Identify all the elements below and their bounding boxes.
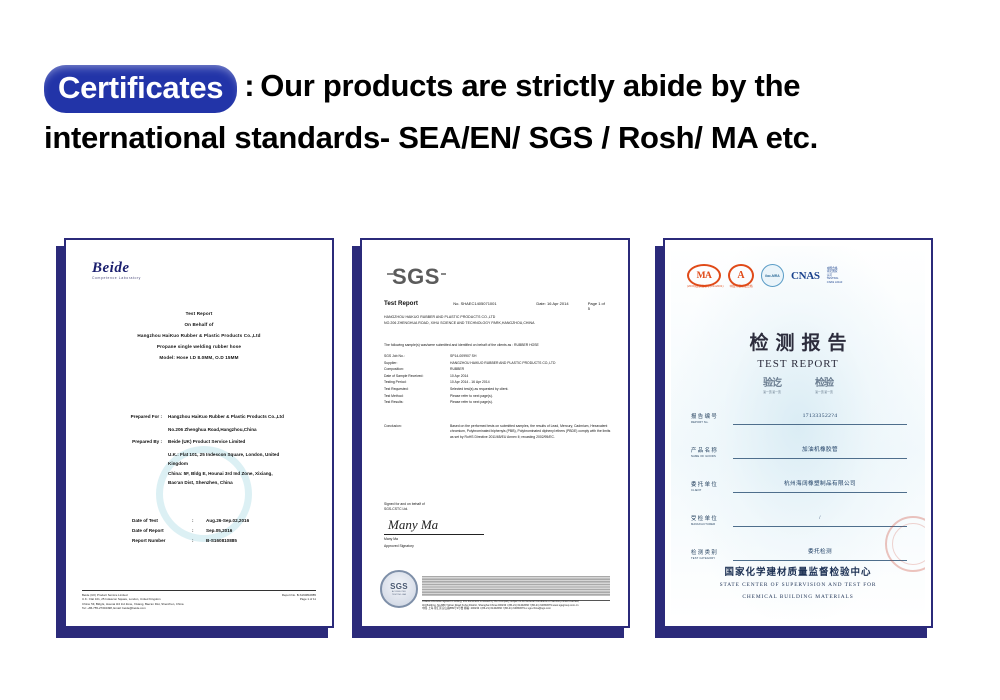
ma-issuer-block: 国家化学建材质量监督检验中心 STATE CENTER OF SUPERVISI… (671, 564, 925, 602)
ma-field-label: 检测类别 TEST CATEGORY (691, 550, 733, 561)
beide-title-line: Model: Hose I.D 8.0MM, O.D 15MM (72, 352, 326, 363)
footer-left: Beide (UK) Product Service Limited U.K.:… (82, 593, 183, 610)
ma-form-row: 受检单位 MANUFACTURER / (691, 506, 907, 527)
sgs-detail-key: Composition: (384, 366, 450, 373)
ma-field-value: / (733, 506, 907, 527)
prepared-for-address-row: No.206 Zhenghua Road,Hangzhou,China (100, 425, 314, 435)
sgs-logo: SGS (392, 264, 440, 290)
prepared-by-address-row: U.K.: Flat 101, 25 Indescon Square, Lond… (100, 450, 314, 488)
sgs-detail-value: Please refer to next page(s). (450, 393, 612, 400)
certificate-page-ma: MA A ilac-MRA CNAS 中国合格 评定国家 认可 TESTING … (663, 238, 933, 628)
seal-logo-text: SGS (390, 582, 408, 591)
ma-field-label-en: CLIENT (691, 489, 733, 493)
ma-field-label-en: MANUFACTURER (691, 523, 733, 527)
ma-field-label-cn: 报告编号 (691, 414, 733, 421)
spacer-label (100, 450, 168, 488)
beide-title-block: Test Report On Behalf of Hangzhou HaiKuo… (72, 308, 326, 363)
sgs-detail-value: RUBBER (450, 366, 612, 373)
sgs-conclusion-value: Based on the performed tests on submitte… (450, 424, 612, 440)
footer-divider (82, 590, 316, 591)
sgs-detail-value: Please refer to next page(s). (450, 399, 612, 406)
ma-field-value: 加油机橡胶管 (733, 438, 907, 459)
ma-field-label: 受检单位 MANUFACTURER (691, 516, 733, 527)
prepared-for-label: Prepared For : (100, 412, 168, 422)
ma-title-en: TEST REPORT (671, 358, 925, 370)
ma-field-label-en: REPORT No. (691, 421, 733, 425)
sgs-report-number: No. SHAEC1405071001 (453, 301, 536, 306)
ma-certificate-number: (2009)国认监认字(2112001) (687, 284, 724, 288)
ma-field-label-cn: 检测类别 (691, 550, 733, 557)
sgs-detail-value: 10 Apr 2014 - 16 Apr 2014 (450, 379, 612, 386)
footer-disclaimer-block (422, 576, 610, 596)
beide-logo-subtitle: Competence Laboratory (92, 276, 141, 280)
certificates-badge: Certificates (44, 65, 237, 113)
certificate-page-sgs: SGS Test Report No. SHAEC1405071001 Date… (360, 238, 630, 628)
spacer-label (100, 425, 168, 435)
ma-field-label-cn: 产品名称 (691, 448, 733, 455)
headline: Certificates:Our products are strictly a… (44, 60, 974, 164)
prepared-for-address: No.206 Zhenghua Road,Hangzhou,China (168, 425, 314, 435)
date-separator: : (192, 526, 206, 536)
sgs-report-title: Test Report (384, 300, 453, 307)
ma-title-cn: 检测报告 (671, 328, 925, 355)
prepared-by-address-4: Bao'an Dist, Shenzhen, China (168, 478, 314, 488)
prepared-for-value: Hangzhou HaiKuo Rubber & Plastic Product… (168, 412, 314, 422)
ma-issuer-cn: 国家化学建材质量监督检验中心 (671, 564, 925, 578)
sgs-detail-key: Test Method: (384, 393, 450, 400)
sgs-footer-line: 中国·上海·徐汇区宜山路889号3号楼 邮编: 200233 t (86-21)… (422, 607, 610, 611)
ma-field-label: 产品名称 NAME OF GOODS (691, 448, 733, 459)
prepared-by-value: Beide (UK) Product Service Limited (168, 437, 314, 447)
ma-stamp-group: 验讫 第一页 第一页 (763, 374, 781, 394)
date-row: Date of Report : Sep.05,2016 (132, 526, 249, 536)
sgs-detail-row: Composition: RUBBER (384, 366, 612, 373)
ma-field-value-text: 171333522?4 (803, 413, 838, 419)
ma-field-value: 171333522?4 (733, 404, 907, 425)
ma-issuer-en-line-2: CHEMICAL BUILDING MATERIALS (671, 593, 925, 602)
sgs-signature-block: Signed for and on behalf of SGS-CSTC Ltd… (384, 502, 492, 549)
sgs-detail-rows: SGS Job No.: SP14-009907 SH Supplier: HA… (384, 353, 612, 406)
ma-form-row: 产品名称 NAME OF GOODS 加油机橡胶管 (691, 438, 907, 459)
ma-field-label-cn: 委托单位 (691, 482, 733, 489)
date-row: Date of Test : Aug.26-Sep.02,2016 (132, 516, 249, 526)
sgs-detail-key: Supplier: (384, 360, 450, 367)
footer-left-line: Tel: +86-755-27304498, Email: beide@beid… (82, 606, 183, 610)
sgs-detail-key: Test Results: (384, 399, 450, 406)
sgs-conclusion-row: Conclusion: Based on the performed tests… (384, 424, 612, 440)
ma-field-value: 委托检测 (733, 540, 907, 561)
headline-text-1: Our products are strictly abide by the (260, 68, 800, 103)
beide-title-line: Test Report (72, 308, 326, 319)
certificate-card-sgs[interactable]: SGS Test Report No. SHAEC1405071001 Date… (352, 238, 630, 638)
sgs-detail-row: Date of Sample Received: 10 Apr 2014 (384, 373, 612, 380)
sgs-detail-value: SP14-009907 SH (450, 353, 612, 360)
beide-logo: Beide (92, 260, 130, 277)
sgs-detail-value: HANGZHOU HAIKUO RUBBER AND PLASTIC PRODU… (450, 360, 612, 367)
sgs-detail-row: Test Requested: Selected test(s) as requ… (384, 386, 612, 393)
prepared-for-row: Prepared For : Hangzhou HaiKuo Rubber & … (100, 412, 314, 422)
sgs-accreditation-seal-icon: SGS ACCREDITED TESTING LAB (380, 570, 418, 608)
sgs-intro-text: The following sample(s) was/were submitt… (384, 343, 608, 348)
cnas-logo-icon: CNAS (791, 270, 820, 282)
sgs-report-date: Date: 16 Apr 2014 (536, 301, 587, 306)
ma-field-value-text: 委托检测 (808, 549, 832, 555)
seal-sub-2: TESTING LAB (392, 594, 406, 597)
ma-form-row: 报告编号 REPORT No. 171333522?4 (691, 404, 907, 425)
date-separator: : (192, 536, 206, 546)
prepared-by-address-1: U.K.: Flat 101, 25 Indescon Square, Lond… (168, 450, 314, 460)
ma-field-value-text: / (819, 515, 821, 521)
certificates-gallery: Beide Competence Laboratory Test Report … (0, 238, 1000, 648)
ma-issuer-en-line-1: STATE CENTER OF SUPERVISION AND TEST FOR (671, 581, 925, 590)
cma-certificate-number: 中国计量认证合格 (730, 284, 753, 288)
inspection-stamp-icon: 检验 (815, 374, 833, 389)
sgs-signature-line (384, 534, 484, 535)
sgs-conclusion-key: Conclusion: (384, 424, 450, 440)
sgs-detail-row: Test Method: Please refer to next page(s… (384, 393, 612, 400)
sgs-detail-key: Testing Period: (384, 379, 450, 386)
sgs-page-number: Page 1 of 5 (588, 301, 608, 311)
beide-title-line: Hangzhou HaiKuo Rubber & Plastic Product… (72, 330, 326, 341)
ma-form-row: 委托单位 CLIENT 杭州海阔橡塑制品有限公司 (691, 472, 907, 493)
sgs-detail-row: SGS Job No.: SP14-009907 SH (384, 353, 612, 360)
ma-title-block: 检测报告 TEST REPORT (671, 328, 925, 370)
ma-field-label: 报告编号 REPORT No. (691, 414, 733, 425)
ma-stamp-group: 检验 第一页 第一页 (815, 374, 833, 394)
sgs-detail-row: Testing Period: 10 Apr 2014 - 16 Apr 201… (384, 379, 612, 386)
sgs-signed-lab: SGS-CSTC Ltd. (384, 507, 492, 512)
date-value: Aug.26-Sep.02,2016 (206, 516, 249, 526)
sgs-detail-row: Test Results: Please refer to next page(… (384, 399, 612, 406)
sgs-detail-key: SGS Job No.: (384, 353, 450, 360)
beide-title-line: On Behalf of (72, 319, 326, 330)
ma-stamp-row: 验讫 第一页 第一页 检验 第一页 第一页 (671, 374, 925, 394)
date-label: Report Number (132, 536, 192, 546)
prepared-by-address-2: Kingdom (168, 459, 314, 469)
ilac-mra-logo-icon: ilac-MRA (761, 264, 784, 287)
stamp-caption: 第一页 第一页 (815, 390, 833, 394)
beide-dates-block: Date of Test : Aug.26-Sep.02,2016 Date o… (132, 516, 249, 546)
ma-field-value: 杭州海阔橡塑制品有限公司 (733, 472, 907, 493)
sgs-detail-key: Date of Sample Received: (384, 373, 450, 380)
sgs-detail-row: Supplier: HANGZHOU HAIKUO RUBBER AND PLA… (384, 360, 612, 367)
sgs-header-row: Test Report No. SHAEC1405071001 Date: 16… (384, 300, 608, 311)
ma-form-fields: 报告编号 REPORT No. 171333522?4 产品名称 NAME OF… (691, 404, 907, 574)
sgs-client-address: NO.206 ZHENGHUA ROAD, XIHU SCIENCE AND T… (384, 320, 534, 326)
beide-title-line: Propane single welding rubber hose (72, 341, 326, 352)
headline-line-2: international standards- SEA/EN/ SGS / R… (44, 112, 974, 164)
prepared-by-address-3: China: 5F, Bldg E, Hounai 3rd Ind Zone, … (168, 469, 314, 479)
date-label: Date of Report (132, 526, 192, 536)
ma-field-label-cn: 受检单位 (691, 516, 733, 523)
sgs-detail-value: Selected test(s) as requested by client. (450, 386, 612, 393)
date-row: Report Number : B-S160810885 (132, 536, 249, 546)
prepared-by-row: Prepared By : Beide (UK) Product Service… (100, 437, 314, 447)
cnas-caption-line: CNAS L0110 (827, 281, 843, 285)
stamp-caption: 第一页 第一页 (763, 390, 781, 394)
beide-prepared-block: Prepared For : Hangzhou HaiKuo Rubber & … (100, 412, 314, 491)
sgs-detail-value: 10 Apr 2014 (450, 373, 612, 380)
certificate-card-beide[interactable]: Beide Competence Laboratory Test Report … (56, 238, 334, 638)
ma-field-label-en: TEST CATEGORY (691, 557, 733, 561)
sgs-signature-mark: Many Ma (388, 517, 492, 533)
date-value: Sep.05,2016 (206, 526, 232, 536)
ma-field-value-text: 加油机橡胶管 (802, 447, 838, 453)
date-value: B-S160810885 (206, 536, 237, 546)
footer-page-no: Page 1 of 11 (282, 597, 316, 601)
date-separator: : (192, 516, 206, 526)
sgs-detail-key: Test Requested: (384, 386, 450, 393)
verification-stamp-icon: 验讫 (763, 374, 781, 389)
beide-footer: Beide (UK) Product Service Limited U.K.:… (82, 590, 316, 610)
certificate-card-ma[interactable]: MA A ilac-MRA CNAS 中国合格 评定国家 认可 TESTING … (655, 238, 933, 638)
ma-field-label: 委托单位 CLIENT (691, 482, 733, 493)
sgs-signatory-title: Approved Signatory (384, 544, 492, 549)
prepared-by-label: Prepared By : (100, 437, 168, 447)
ma-form-row: 检测类别 TEST CATEGORY 委托检测 (691, 540, 907, 561)
headline-line-1: Certificates:Our products are strictly a… (44, 60, 974, 112)
ma-field-label-en: NAME OF GOODS (691, 455, 733, 459)
accreditation-numbers-row: (2009)国认监认字(2112001) 中国计量认证合格 (687, 284, 753, 288)
certificate-page-beide: Beide Competence Laboratory Test Report … (64, 238, 334, 628)
headline-colon: : (244, 60, 254, 112)
cnas-logo-caption: 中国合格 评定国家 认可 TESTING CNAS L0110 (827, 267, 843, 285)
date-label: Date of Test (132, 516, 192, 526)
footer-right: Report No. B-S160810885 Page 1 of 11 (282, 593, 316, 610)
ma-field-value-text: 杭州海阔橡塑制品有限公司 (784, 481, 856, 487)
sgs-signatory-name: Many Ma (384, 537, 492, 542)
sgs-client-block: HANGZHOU HAIKUO RUBBER AND PLASTIC PRODU… (384, 314, 534, 326)
